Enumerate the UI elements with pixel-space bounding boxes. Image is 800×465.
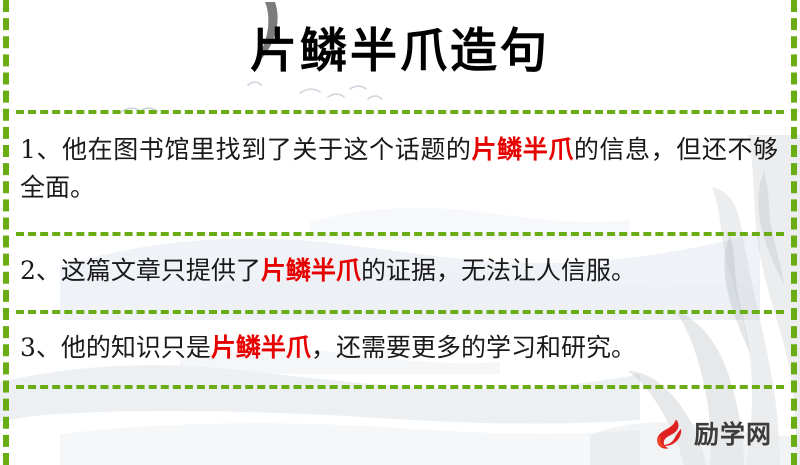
keyword-highlight-3: 片鳞半爪 [211,333,311,362]
keyword-highlight-1: 片鳞半爪 [472,135,574,164]
sentence-index-3: 3、 [20,333,61,362]
flame-swirl-icon [653,417,687,451]
separator-dashed-2 [16,232,784,236]
separator-dashed-3 [16,310,784,314]
sentence-text-after-3: ，还需要更多的学习和研究。 [311,333,636,362]
separator-dashed-1 [16,110,784,114]
sentence-text-before-2: 这篇文章只提供了 [61,256,261,285]
separator-dashed-4 [16,385,784,389]
site-logo[interactable]: 励学网 [653,417,772,451]
keyword-highlight-2: 片鳞半爪 [261,256,361,285]
sentence-text-before-1: 他在图书馆里找到了关于这个话题的 [62,135,471,164]
example-sentence-1: 1、他在图书馆里找到了关于这个话题的片鳞半爪的信息，但还不够全面。 [20,131,778,207]
sentence-index-2: 2、 [20,256,61,285]
page-title: 片鳞半爪造句 [0,24,800,80]
page-root: 片鳞半爪造句 1、他在图书馆里找到了关于这个话题的片鳞半爪的信息，但还不够全面。… [0,0,800,465]
sentence-index-1: 1、 [20,135,62,164]
sentence-text-before-3: 他的知识只是 [61,333,211,362]
example-sentence-2: 2、这篇文章只提供了片鳞半爪的证据，无法让人信服。 [20,252,778,290]
logo-text: 励学网 [694,422,772,447]
sentence-text-after-2: 的证据，无法让人信服。 [361,256,636,285]
example-sentence-3: 3、他的知识只是片鳞半爪，还需要更多的学习和研究。 [20,329,778,367]
